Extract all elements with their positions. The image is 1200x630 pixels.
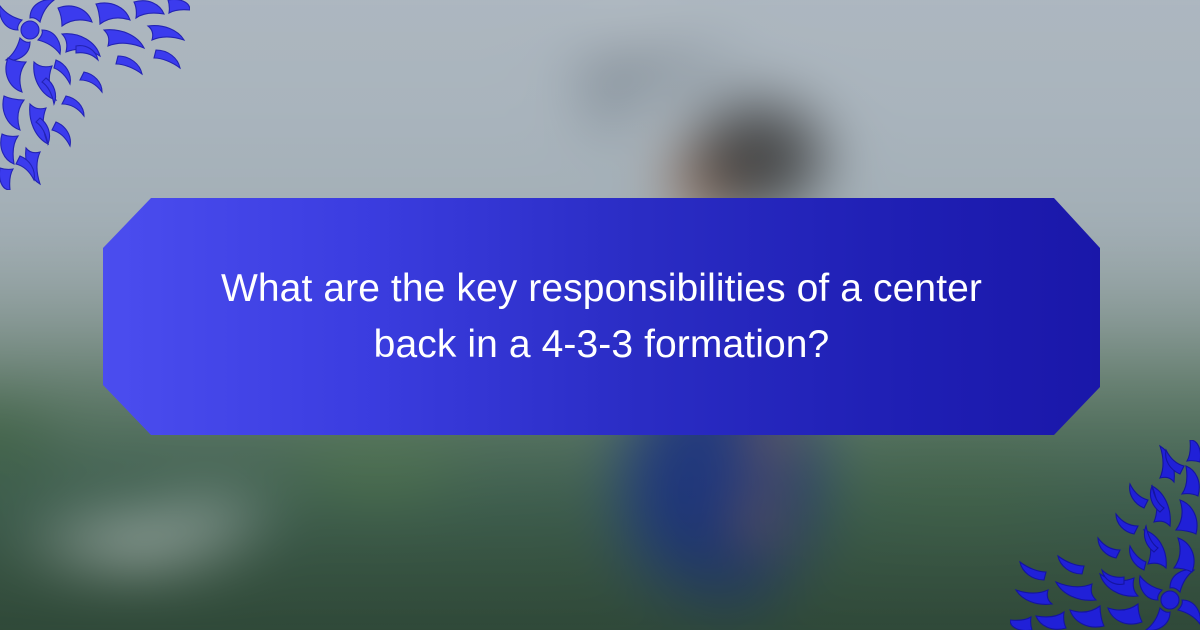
question-banner: What are the key responsibilities of a c…: [103, 198, 1100, 435]
question-card: What are the key responsibilities of a c…: [0, 0, 1200, 630]
question-text: What are the key responsibilities of a c…: [177, 261, 1027, 372]
